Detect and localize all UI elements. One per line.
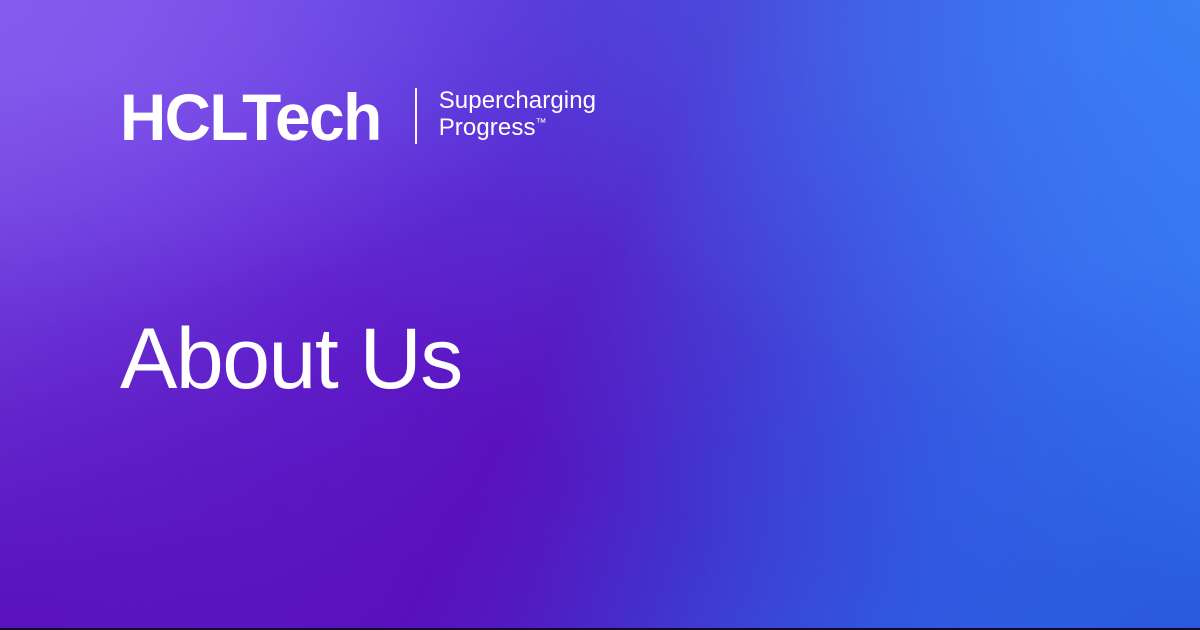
hcltech-wordmark: HCLTech [120, 85, 381, 149]
trademark-symbol: ™ [536, 117, 547, 129]
tagline-line-2: Progress™ [439, 114, 596, 141]
page-title: About Us [120, 313, 462, 405]
hcltech-about-us-banner: HCLTech Supercharging Progress™ About Us [0, 0, 1200, 630]
tagline-line-2-text: Progress [439, 114, 536, 141]
brand-tagline: Supercharging Progress™ [439, 87, 596, 141]
tagline-line-1: Supercharging [439, 87, 596, 114]
brand-logo-lockup[interactable]: HCLTech Supercharging Progress™ [120, 84, 596, 149]
logo-divider-rule [415, 88, 417, 144]
